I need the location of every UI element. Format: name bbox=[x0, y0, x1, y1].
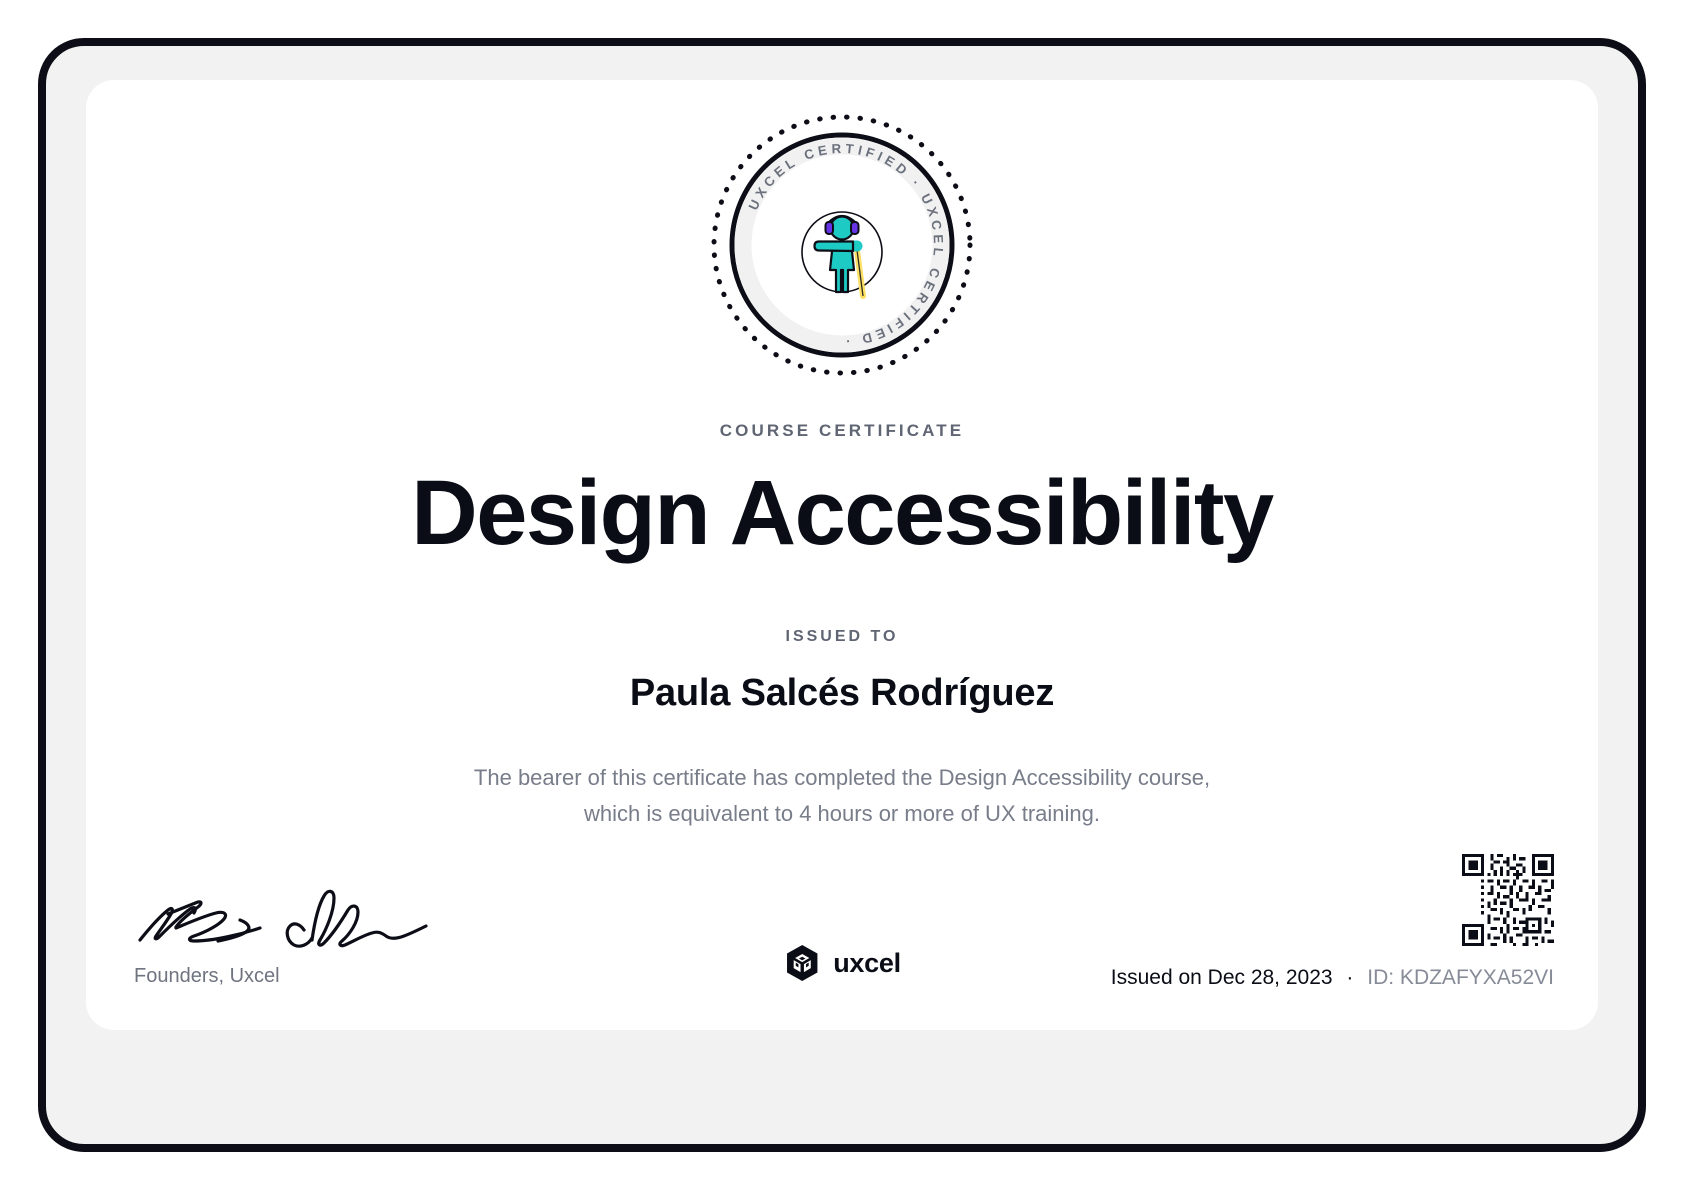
founder-signature-one bbox=[140, 902, 260, 941]
founder-signature-two bbox=[287, 891, 426, 946]
signature-block: Founders, Uxcel bbox=[128, 878, 548, 988]
certificate-footer: Founders, Uxcel uxcel bbox=[86, 820, 1598, 1030]
verification-qr-code[interactable] bbox=[1462, 854, 1554, 946]
description-line-1: The bearer of this certificate has compl… bbox=[206, 760, 1478, 796]
certificate-card: UXCEL CERTIFIED · UXCEL CERTIFIED · bbox=[86, 80, 1598, 1030]
issue-meta-line: Issued on Dec 28, 2023 · ID: KDZAFYXA52V… bbox=[1111, 966, 1554, 990]
uxcel-cube-logo bbox=[783, 944, 821, 982]
uxcel-brand-lockup: uxcel bbox=[783, 944, 901, 982]
page-title: Design Accessibility bbox=[86, 464, 1598, 563]
meta-separator: · bbox=[1346, 966, 1353, 989]
certificate-meta: Issued on Dec 28, 2023 · ID: KDZAFYXA52V… bbox=[1111, 854, 1554, 990]
founder-signatures bbox=[132, 878, 432, 953]
issued-to-label: ISSUED TO bbox=[86, 628, 1598, 646]
brand-name: uxcel bbox=[833, 948, 901, 979]
certificate-page: UXCEL CERTIFIED · UXCEL CERTIFIED · bbox=[0, 0, 1684, 1190]
certificate-id: ID: KDZAFYXA52VI bbox=[1367, 966, 1554, 989]
issued-on-date: Issued on Dec 28, 2023 bbox=[1111, 966, 1333, 989]
uxcel-certified-badge: UXCEL CERTIFIED · UXCEL CERTIFIED · bbox=[707, 110, 977, 380]
signature-label: Founders, Uxcel bbox=[134, 965, 548, 988]
recipient-name: Paula Salcés Rodríguez bbox=[86, 672, 1598, 715]
badge-graphic: UXCEL CERTIFIED · UXCEL CERTIFIED · bbox=[707, 110, 977, 380]
course-certificate-kicker: COURSE CERTIFICATE bbox=[86, 421, 1598, 441]
